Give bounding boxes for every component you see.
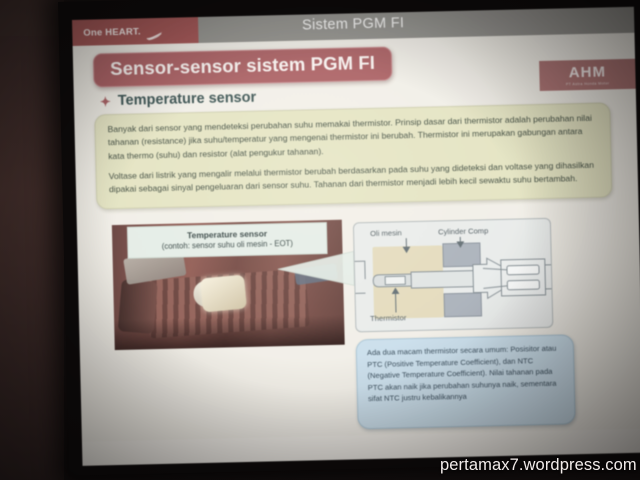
paragraph-2: Voltase dari listrik yang mengalir melal… — [109, 159, 599, 197]
diagram-label-thermistor: Thermistor — [370, 313, 406, 323]
wall-side-panel — [0, 0, 64, 480]
thermistor-note-callout: Ada dua macam thermistor secara umum: Po… — [356, 334, 576, 429]
diamond-bullet-icon: ✦ — [100, 95, 111, 108]
slide-heading: Sensor-sensor sistem PGM FI — [93, 46, 393, 87]
one-heart-logo: One HEART. — [72, 17, 199, 46]
temperature-sensor-highlight — [200, 275, 247, 313]
sensor-cross-section-diagram: Oli mesin Cylinder Comp Thermistor — [353, 218, 554, 333]
ahm-logo: AHM PT Astra Honda Motor — [539, 59, 636, 91]
photo-caption: Temperature sensor (contoh: sensor suhu … — [127, 222, 328, 258]
presentation-slide: Sistem PGM FI One HEART. AHM PT Astra Ho… — [72, 7, 640, 466]
description-callout: Banyak dari sensor yang mendeteksi perub… — [94, 102, 612, 209]
wing-icon — [146, 26, 164, 35]
diagram-label-oil: Oli mesin — [370, 228, 402, 238]
watermark: pertamax7.wordpress.com — [440, 456, 637, 475]
thermistor-note-text: Ada dua macam thermistor secara umum: Po… — [367, 343, 564, 405]
engine-photo-shadow — [114, 315, 345, 350]
ahm-logo-subtext: PT Astra Honda Motor — [566, 81, 610, 86]
one-heart-label: One HEART. — [83, 26, 141, 38]
slide-body: AHM PT Astra Honda Motor Sensor-sensor s… — [73, 33, 640, 442]
diagram-label-cylinder: Cylinder Comp — [438, 226, 488, 236]
paragraph-1: Banyak dari sensor yang mendeteksi perub… — [107, 112, 598, 163]
slide-subheading: Temperature sensor — [118, 90, 257, 109]
ahm-logo-text: AHM — [569, 64, 607, 80]
slide-subheading-row: ✦ Temperature sensor — [100, 90, 257, 110]
projected-slide-photo: Sistem PGM FI One HEART. AHM PT Astra Ho… — [0, 0, 640, 480]
